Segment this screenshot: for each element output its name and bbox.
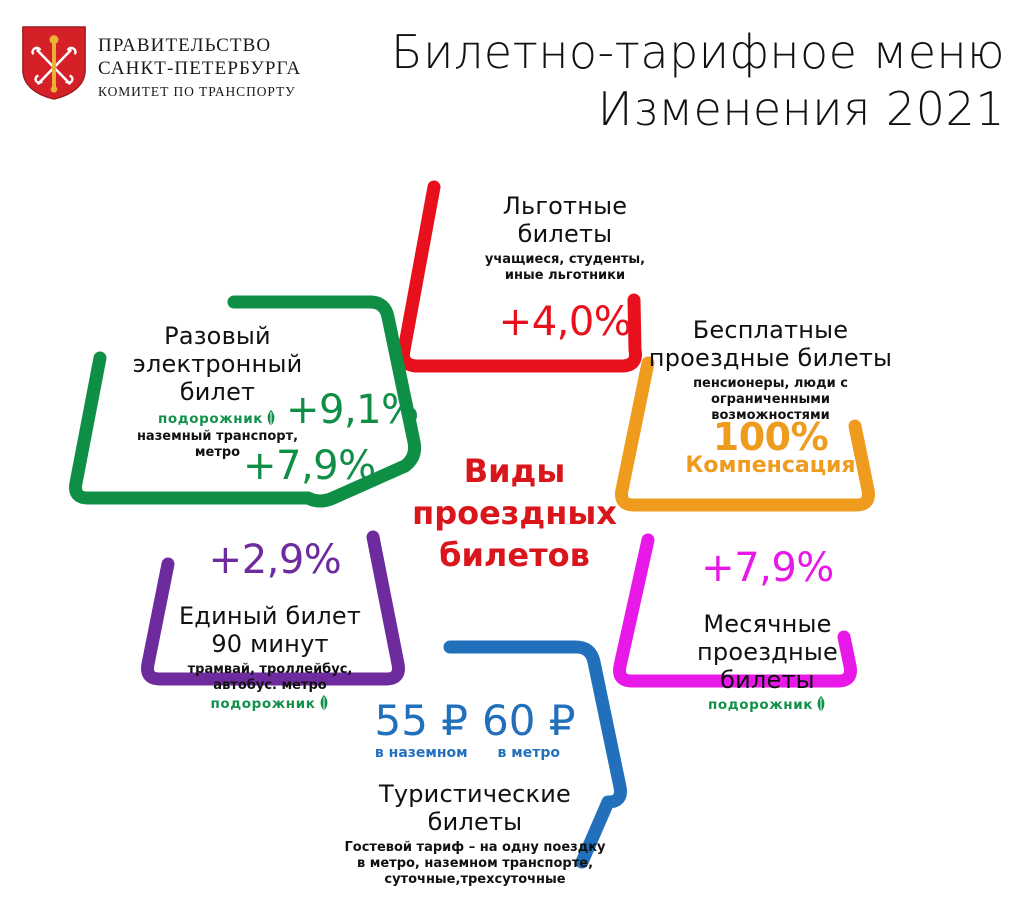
price-metro: 60 ₽ в метро [482,698,576,762]
price-metro-value: 60 ₽ [482,698,576,744]
center-line-1: Виды [392,450,637,492]
segment-red-title-1: Льготные [440,192,690,220]
org-line-3: КОМИТЕТ ПО ТРАНСПОРТУ [98,84,301,100]
segment-purple-title-1: Единый билет [160,602,380,630]
podorozhnik-wordmark: подорожник [158,411,263,427]
segment-blue-label: Туристические билеты Гостевой тариф – на… [330,780,620,888]
org-line-1: ПРАВИТЕЛЬСТВО [98,34,301,57]
segment-purple-title-2: 90 минут [160,630,380,658]
segment-orange-title-2: проездные билеты [648,344,893,372]
segment-magenta-title-1: Месячные [655,610,880,638]
segment-blue-title-2: билеты [330,808,620,836]
price-ground-value: 55 ₽ [374,698,468,744]
center-line-2: проездных [392,492,637,534]
leaf-icon [815,696,827,713]
segment-red-subtitle-1: учащиеся, студенты, [440,252,690,268]
saint-petersburg-coat-of-arms [20,25,88,101]
center-line-3: билетов [392,534,637,576]
segment-purple-value: +2,9% [190,538,360,582]
podorozhnik-logo-magenta: подорожник [655,696,880,713]
segment-red-label: Льготные билеты учащиеся, студенты, иные… [440,192,690,284]
segment-blue-subtitle-2: в метро, наземном транспорте, [330,856,620,872]
segment-green-value-1: +9,1% [286,388,419,432]
infographic-page: ПРАВИТЕЛЬСТВО САНКТ-ПЕТЕРБУРГА КОМИТЕТ П… [0,0,1024,914]
segment-magenta-title-3: билеты [655,666,880,694]
page-header: ПРАВИТЕЛЬСТВО САНКТ-ПЕТЕРБУРГА КОМИТЕТ П… [0,0,1024,160]
podorozhnik-wordmark: подорожник [708,697,813,713]
org-line-2: САНКТ-ПЕТЕРБУРГА [98,57,301,80]
segment-red-title-2: билеты [440,220,690,248]
segment-blue-subtitle-1: Гостевой тариф – на одну поездку [330,840,620,856]
segment-green-title-2: электронный [110,350,325,378]
segment-magenta-value: +7,9% [655,546,880,590]
segment-orange-title-1: Бесплатные [648,316,893,344]
segment-orange-label: Бесплатные проездные билеты пенсионеры, … [648,316,893,424]
title-line-2: Изменения 2021 [330,81,1005,138]
segment-blue-title-1: Туристические [330,780,620,808]
segment-blue-subtitle-3: суточные,трехсуточные [330,872,620,888]
page-title: Билетно-тарифное меню Изменения 2021 [330,24,1005,138]
segment-purple-subtitle-1: трамвай, троллейбус, [160,662,380,678]
segment-purple-subtitle-2: автобус. метро [160,678,380,694]
podorozhnik-wordmark: подорожник [210,696,315,712]
organization-name: ПРАВИТЕЛЬСТВО САНКТ-ПЕТЕРБУРГА КОМИТЕТ П… [98,34,301,100]
segment-purple-label: Единый билет 90 минут трамвай, троллейбу… [160,602,380,713]
price-ground-caption: в наземном [375,744,468,762]
price-metro-caption: в метро [498,744,560,762]
segment-magenta-title-2: проездные [655,638,880,666]
ticket-types-diagram: Виды проездных билетов Льготные билеты у… [0,150,1024,914]
center-label: Виды проездных билетов [392,450,637,576]
leaf-icon [265,410,277,427]
segment-green-value-2: +7,9% [243,444,376,488]
segment-red-subtitle-2: иные льготники [440,268,690,284]
price-ground: 55 ₽ в наземном [374,698,468,762]
segment-green-title-1: Разовый [110,322,325,350]
segment-orange-subtitle-1: пенсионеры, люди с ограниченными [648,376,893,408]
segment-orange-value-caption: Компенсация [648,453,893,478]
leaf-icon [318,695,330,712]
segment-blue-prices: 55 ₽ в наземном 60 ₽ в метро [330,698,620,762]
title-line-1: Билетно-тарифное меню [330,24,1005,81]
segment-magenta-label: Месячные проездные билеты подорожник [655,610,880,714]
